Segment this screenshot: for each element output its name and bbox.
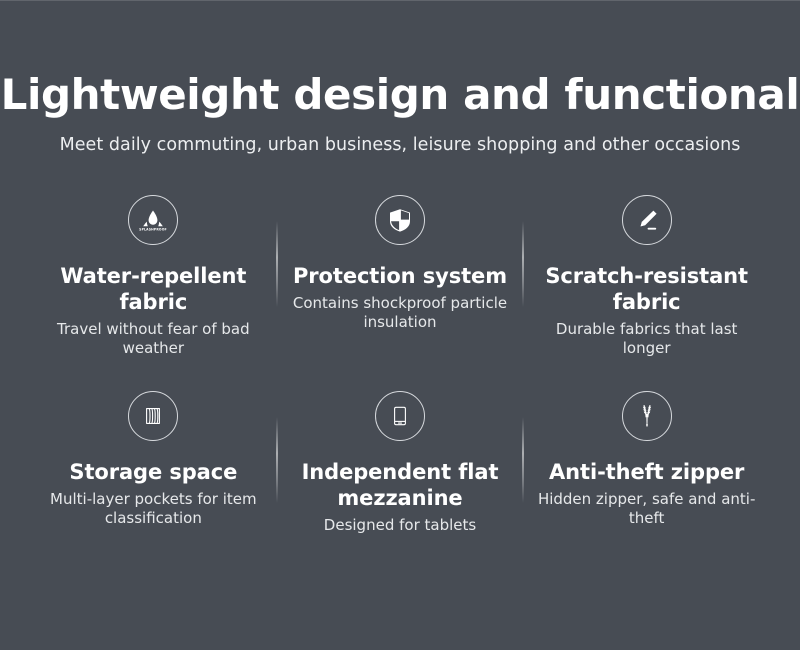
- feature-title: Water-repellent fabric: [40, 263, 267, 315]
- feature-cell-storage-space: Storage space Multi-layer pockets for it…: [30, 391, 277, 587]
- feature-description: Travel without fear of bad weather: [40, 320, 267, 358]
- feature-cell-independent-flat-mezzanine: Independent flat mezzanine Designed for …: [277, 391, 524, 587]
- feature-title: Anti-theft zipper: [549, 459, 744, 485]
- feature-grid: SPLASHPROOF Water-repellent fabric Trave…: [30, 157, 770, 587]
- feature-description: Multi-layer pockets for item classificat…: [40, 490, 267, 528]
- page-title: Lightweight design and functional: [0, 69, 800, 121]
- page-subtitle: Meet daily commuting, urban business, le…: [0, 133, 800, 157]
- layered-pockets-icon: [128, 391, 178, 441]
- feature-description: Durable fabrics that last longer: [533, 320, 760, 358]
- feature-title: Independent flat mezzanine: [287, 459, 514, 511]
- feature-cell-water-repellent-fabric: SPLASHPROOF Water-repellent fabric Trave…: [30, 195, 277, 391]
- feature-cell-protection-system: Protection system Contains shockproof pa…: [277, 195, 524, 391]
- feature-cell-scratch-resistant-fabric: Scratch-resistant fabric Durable fabrics…: [523, 195, 770, 391]
- pencil-icon: [622, 195, 672, 245]
- splashproof-icon-label: SPLASHPROOF: [139, 228, 167, 232]
- feature-description: Contains shockproof particle insulation: [287, 294, 514, 332]
- feature-description: Designed for tablets: [324, 516, 476, 535]
- feature-cell-anti-theft-zipper: Anti-theft zipper Hidden zipper, safe an…: [523, 391, 770, 587]
- zipper-icon: [622, 391, 672, 441]
- feature-title: Storage space: [69, 459, 237, 485]
- shield-icon: [375, 195, 425, 245]
- feature-title: Protection system: [293, 263, 507, 289]
- feature-title: Scratch-resistant fabric: [533, 263, 760, 315]
- feature-description: Hidden zipper, safe and anti-theft: [533, 490, 760, 528]
- product-feature-banner: Lightweight design and functional Meet d…: [0, 0, 800, 650]
- tablet-icon: [375, 391, 425, 441]
- splashproof-droplet-icon: SPLASHPROOF: [128, 195, 178, 245]
- banner-header: Lightweight design and functional Meet d…: [0, 1, 800, 157]
